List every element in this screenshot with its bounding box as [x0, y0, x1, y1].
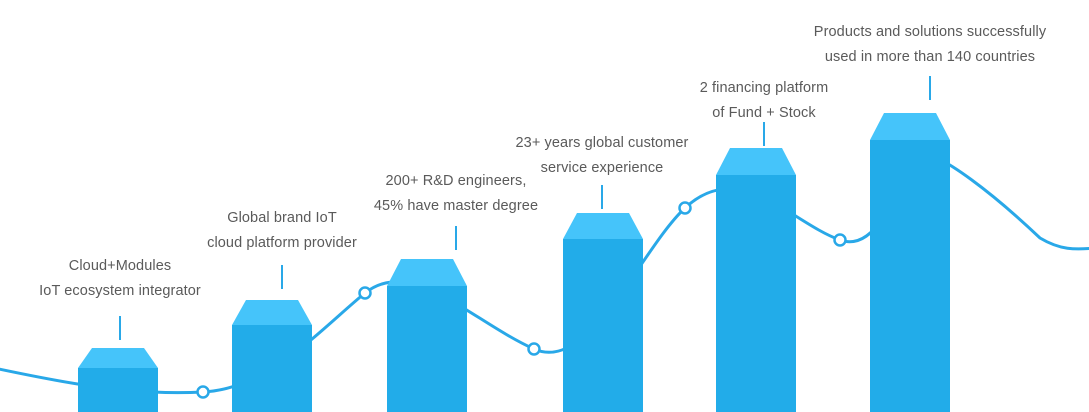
- milestone-tick-5: [763, 122, 765, 146]
- milestone-label-line-1: 23+ years global customer: [516, 131, 689, 156]
- milestone-tick-6: [929, 76, 931, 100]
- milestone-label-text: Products and solutions successfullyused …: [814, 20, 1046, 70]
- milestone-label-line-2: 45% have master degree: [374, 194, 538, 219]
- milestone-label-text: Global brand IoTcloud platform provider: [207, 206, 357, 256]
- milestone-label-line-1: Cloud+Modules: [39, 254, 201, 279]
- milestone-labels-layer: Cloud+ModulesIoT ecosystem integratorGlo…: [0, 0, 1089, 412]
- growth-milestone-infographic: Cloud+ModulesIoT ecosystem integratorGlo…: [0, 0, 1089, 412]
- milestone-tick-1: [119, 316, 121, 340]
- milestone-label-text: Cloud+ModulesIoT ecosystem integrator: [39, 254, 201, 304]
- milestone-label-line-1: 200+ R&D engineers,: [374, 169, 538, 194]
- milestone-label-line-2: cloud platform provider: [207, 231, 357, 256]
- milestone-label-text: 200+ R&D engineers,45% have master degre…: [374, 169, 538, 219]
- milestone-tick-4: [601, 185, 603, 209]
- milestone-label-line-1: Global brand IoT: [207, 206, 357, 231]
- milestone-label-line-2: used in more than 140 countries: [814, 45, 1046, 70]
- milestone-label-text: 23+ years global customerservice experie…: [516, 131, 689, 181]
- milestone-tick-2: [281, 265, 283, 289]
- milestone-label-line-2: IoT ecosystem integrator: [39, 279, 201, 304]
- milestone-label-line-1: Products and solutions successfully: [814, 20, 1046, 45]
- milestone-label-line-1: 2 financing platform: [700, 76, 829, 101]
- milestone-tick-3: [455, 226, 457, 250]
- milestone-label-text: 2 financing platformof Fund + Stock: [700, 76, 829, 126]
- milestone-label-line-2: service experience: [516, 156, 689, 181]
